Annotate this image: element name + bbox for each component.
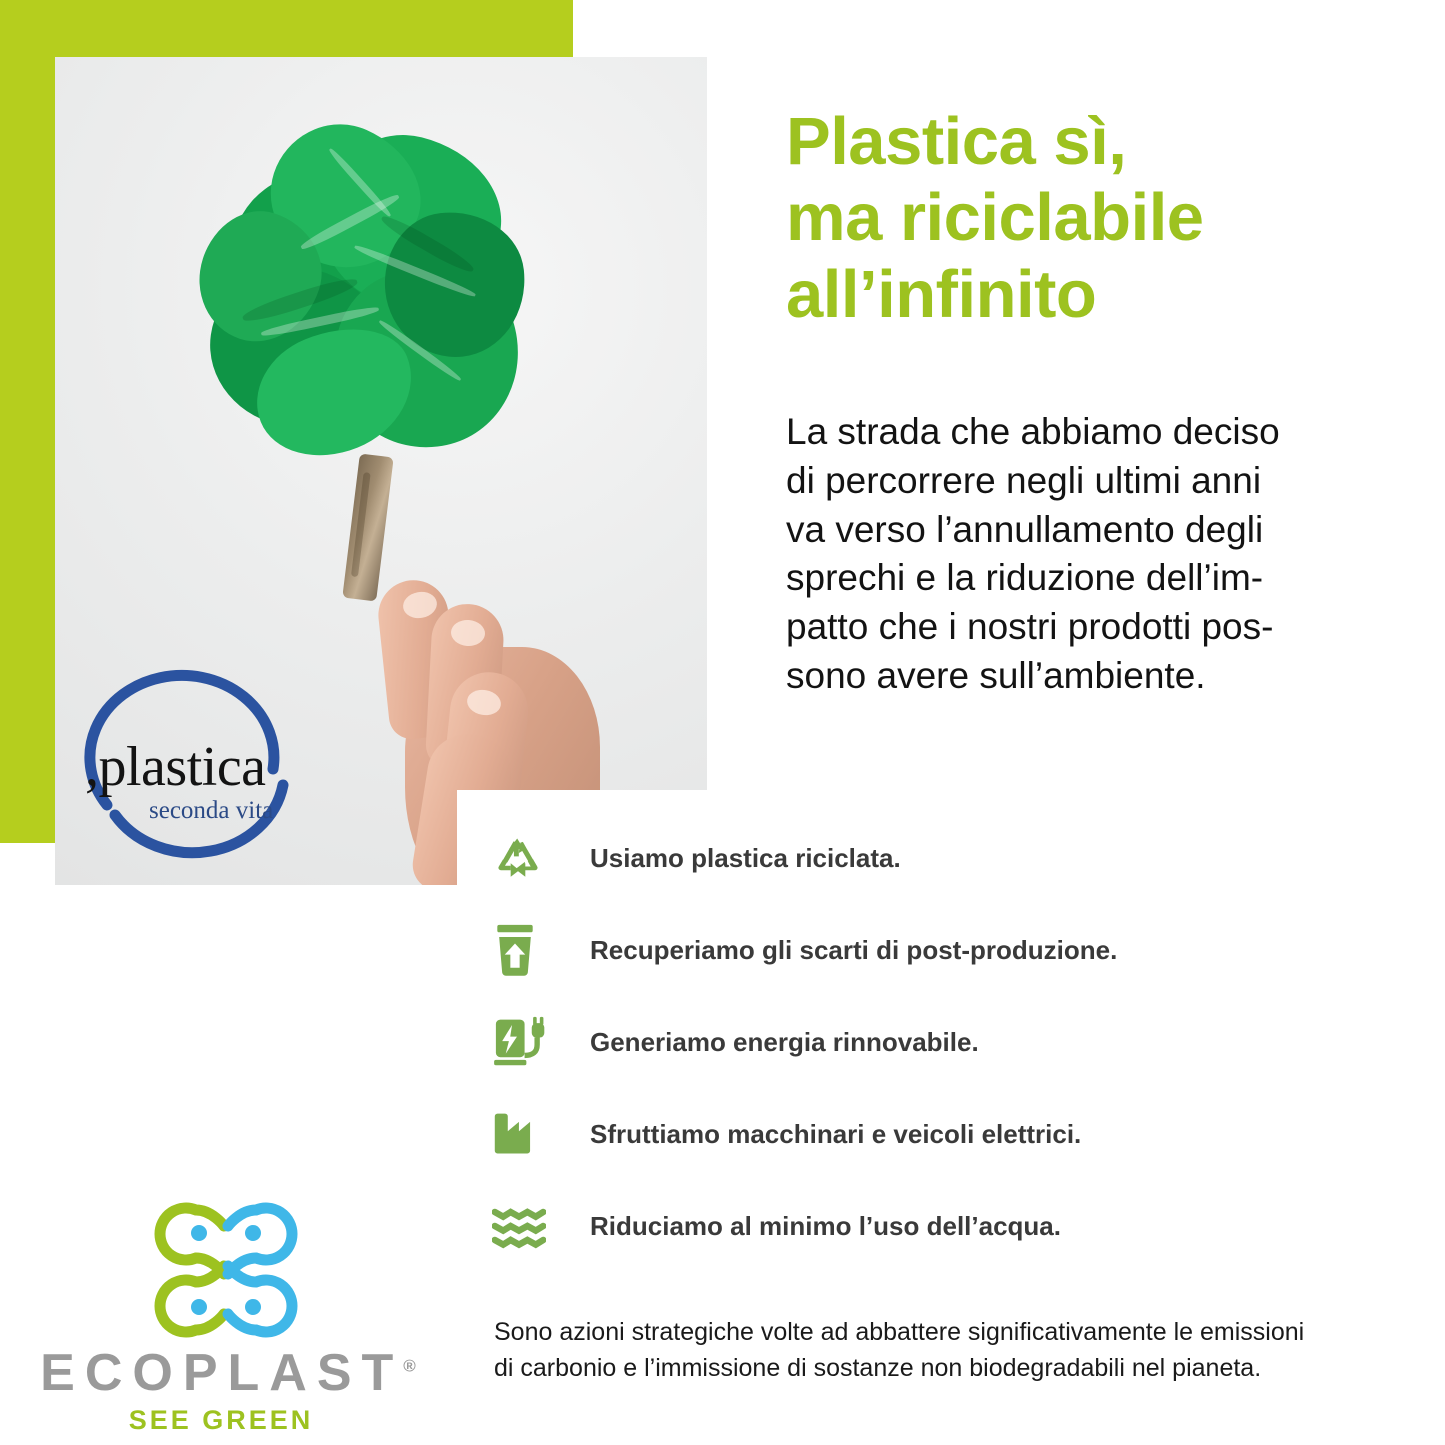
hero-photo: ,plastica seconda vita bbox=[55, 57, 707, 885]
poster-canvas: ,plastica seconda vita Plastica sì, ma r… bbox=[0, 0, 1445, 1445]
butterfly-mark-icon bbox=[146, 1200, 306, 1340]
footer-line-2: di carbonio e l’immissione di sostanze n… bbox=[494, 1351, 1394, 1387]
ecoplast-tagline: SEE GREEN bbox=[28, 1405, 414, 1436]
ecoplast-logo: ECOPLAST® SEE GREEN bbox=[28, 1200, 428, 1430]
list-item: Usiamo plastica riciclata. bbox=[492, 812, 1392, 904]
body-line-2: di percorrere negli ultimi anni bbox=[786, 457, 1386, 506]
list-item-label: Generiamo energia rinnovabile. bbox=[590, 1027, 979, 1058]
body-line-6: sono avere sull’ambiente. bbox=[786, 652, 1386, 701]
action-list: Usiamo plastica riciclata. Recuperiamo g… bbox=[492, 812, 1392, 1272]
headline-line-3: all’infinito bbox=[786, 257, 1406, 333]
footer-note: Sono azioni strategiche volte ad abbatte… bbox=[494, 1315, 1394, 1386]
registered-mark: ® bbox=[403, 1357, 416, 1376]
list-item: Recuperiamo gli scarti di post-produzion… bbox=[492, 904, 1392, 996]
footer-line-1: Sono azioni strategiche volte ad abbatte… bbox=[494, 1315, 1394, 1351]
waste-recovery-icon bbox=[492, 921, 554, 979]
ecoplast-wordmark: ECOPLAST® bbox=[28, 1343, 428, 1403]
headline-line-2: ma riciclabile bbox=[786, 180, 1406, 256]
list-item: Generiamo energia rinnovabile. bbox=[492, 996, 1392, 1088]
ecoplast-name-text: ECOPLAST bbox=[40, 1344, 403, 1402]
paper-tree-foliage bbox=[200, 117, 530, 467]
list-item-label: Riduciamo al minimo l’uso dell’acqua. bbox=[590, 1211, 1061, 1242]
recycle-icon bbox=[492, 829, 554, 887]
intro-paragraph: La strada che abbiamo deciso di percorre… bbox=[786, 408, 1386, 701]
list-item: Sfruttiamo macchinari e veicoli elettric… bbox=[492, 1088, 1392, 1180]
water-waves-icon bbox=[492, 1197, 554, 1255]
psv-subtitle: seconda vita bbox=[149, 797, 273, 825]
body-line-4: sprechi e la riduzione dell’im- bbox=[786, 554, 1386, 603]
body-line-3: va verso l’annullamento degli bbox=[786, 506, 1386, 555]
list-item-label: Sfruttiamo macchinari e veicoli elettric… bbox=[590, 1119, 1081, 1150]
psv-wordmark: ,plastica bbox=[85, 735, 266, 799]
list-item-label: Recuperiamo gli scarti di post-produzion… bbox=[590, 935, 1117, 966]
plastica-seconda-vita-logo: ,plastica seconda vita bbox=[77, 657, 312, 867]
factory-icon bbox=[492, 1105, 554, 1163]
list-item-label: Usiamo plastica riciclata. bbox=[590, 843, 901, 874]
body-line-5: patto che i nostri prodotti pos- bbox=[786, 603, 1386, 652]
list-item: Riduciamo al minimo l’uso dell’acqua. bbox=[492, 1180, 1392, 1272]
page-title: Plastica sì, ma riciclabile all’infinito bbox=[786, 104, 1406, 333]
headline-line-1: Plastica sì, bbox=[786, 104, 1406, 180]
ev-charging-icon bbox=[492, 1013, 554, 1071]
body-line-1: La strada che abbiamo deciso bbox=[786, 408, 1386, 457]
